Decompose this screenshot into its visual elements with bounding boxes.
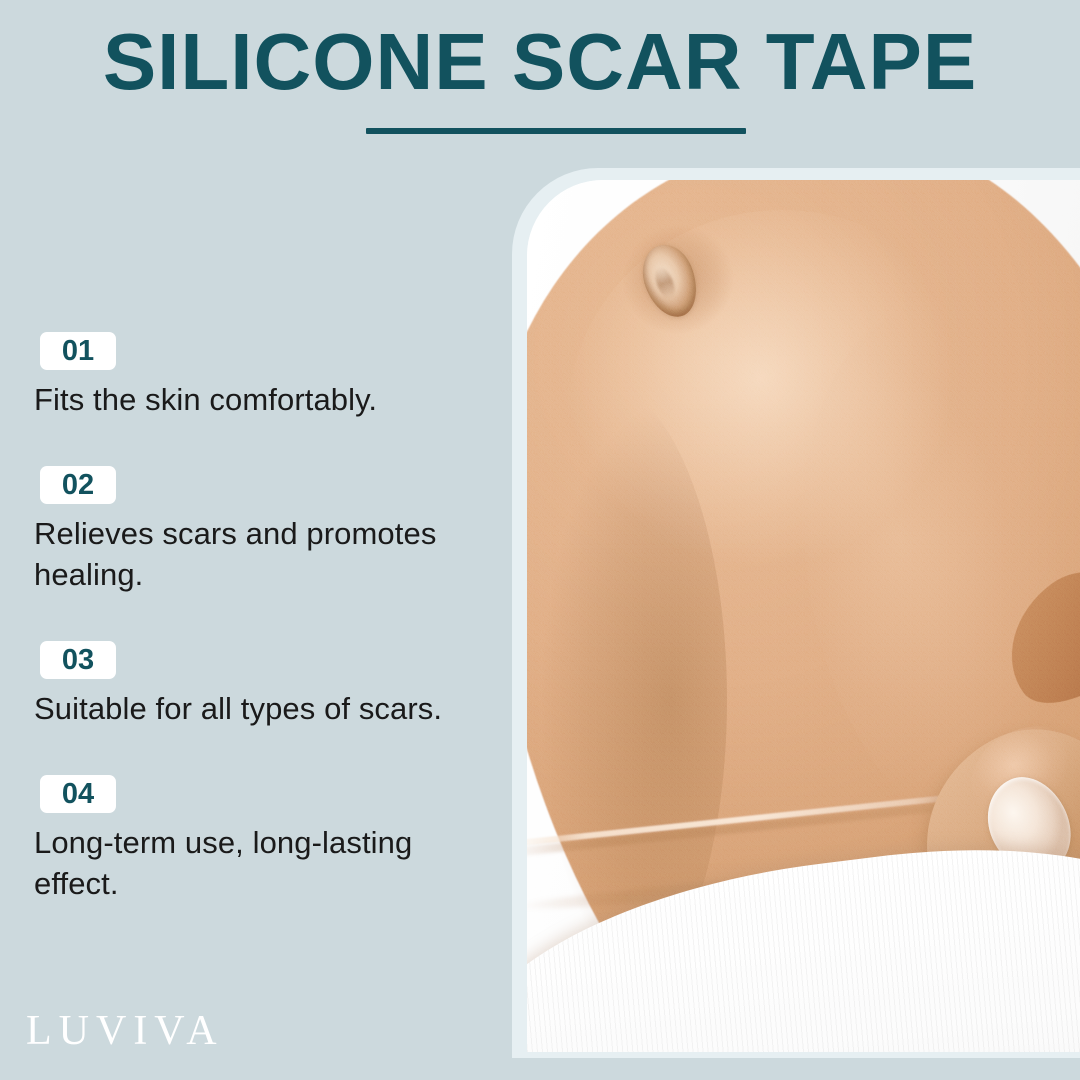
feature-item-03: 03 Suitable for all types of scars. <box>34 641 486 729</box>
feature-description: Relieves scars and promotes healing. <box>34 513 474 595</box>
skin-texture-grain <box>527 180 1080 1052</box>
brand-logo: LUVIVA <box>26 1008 224 1054</box>
poster-canvas: SILICONE SCAR TAPE 01 Fits the sk <box>0 0 1080 1080</box>
page-title: SILICONE SCAR TAPE <box>0 20 1080 104</box>
product-photo-frame <box>512 168 1080 1058</box>
title-underline-rule <box>366 128 746 134</box>
feature-number-badge: 01 <box>40 332 116 370</box>
feature-description: Suitable for all types of scars. <box>34 688 474 729</box>
feature-description: Fits the skin comfortably. <box>34 379 474 420</box>
feature-number-badge: 02 <box>40 466 116 504</box>
feature-number-badge: 04 <box>40 775 116 813</box>
feature-item-01: 01 Fits the skin comfortably. <box>34 332 486 420</box>
feature-number-badge: 03 <box>40 641 116 679</box>
feature-description: Long-term use, long-lasting effect. <box>34 822 474 904</box>
feature-list: 01 Fits the skin comfortably. 02 Relieve… <box>34 332 486 904</box>
feature-item-04: 04 Long-term use, long-lasting effect. <box>34 775 486 904</box>
product-photo <box>527 180 1080 1052</box>
feature-item-02: 02 Relieves scars and promotes healing. <box>34 466 486 595</box>
